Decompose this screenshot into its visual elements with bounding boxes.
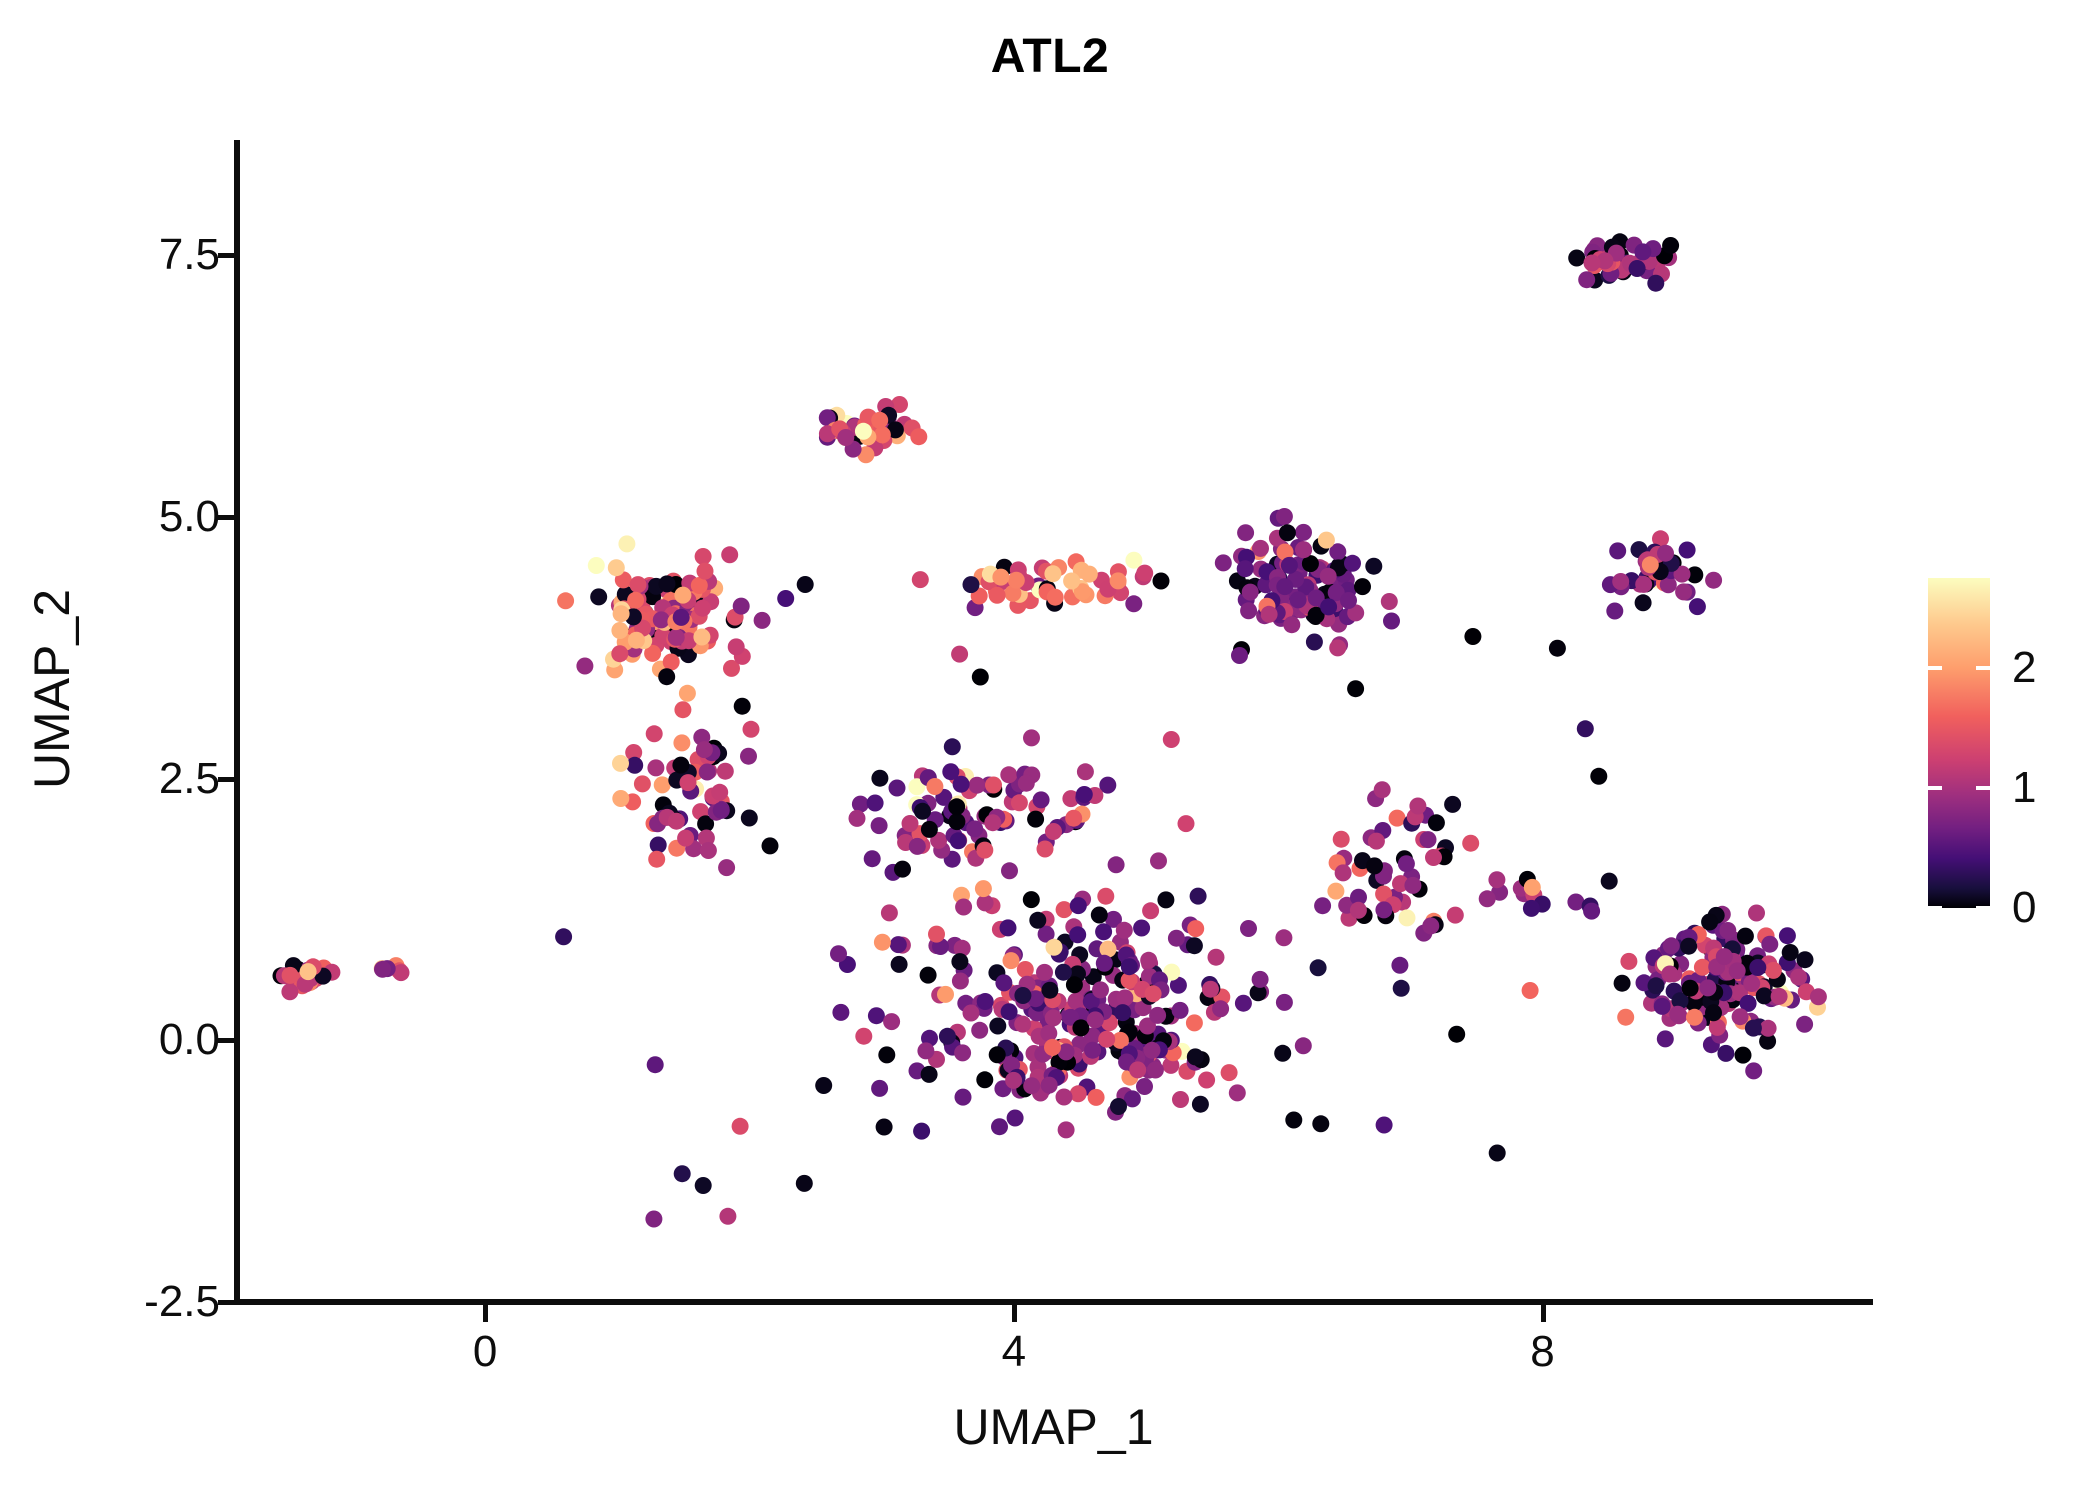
scatter-point xyxy=(881,904,898,921)
scatter-point xyxy=(1705,572,1722,589)
scatter-point xyxy=(648,851,665,868)
scatter-point xyxy=(1221,1064,1238,1081)
scatter-point xyxy=(1335,864,1352,881)
scatter-point xyxy=(1237,560,1254,577)
scatter-point xyxy=(1125,595,1142,612)
scatter-point xyxy=(1063,573,1080,590)
x-tick-mark xyxy=(1541,1305,1546,1322)
scatter-point xyxy=(832,1004,849,1021)
scatter-point xyxy=(1523,900,1540,917)
scatter-point xyxy=(628,632,645,649)
scatter-point xyxy=(694,600,711,617)
scatter-point xyxy=(914,803,931,820)
scatter-point xyxy=(1023,729,1040,746)
scatter-point xyxy=(1790,969,1807,986)
scatter-point xyxy=(743,721,760,738)
scatter-point xyxy=(989,587,1006,604)
scatter-point xyxy=(1374,781,1391,798)
scatter-point xyxy=(976,842,993,859)
scatter-point xyxy=(1444,796,1461,813)
scatter-point xyxy=(679,685,696,702)
scatter-point xyxy=(1479,890,1496,907)
scatter-point xyxy=(1003,952,1020,969)
scatter-point xyxy=(1041,982,1058,999)
scatter-point xyxy=(555,928,572,945)
scatter-point xyxy=(1276,508,1293,525)
scatter-point xyxy=(1088,1089,1105,1106)
scatter-point xyxy=(1140,952,1157,969)
scatter-point xyxy=(1190,888,1207,905)
scatter-point xyxy=(1686,1009,1703,1026)
scatter-point xyxy=(944,738,961,755)
scatter-point xyxy=(1252,540,1269,557)
colorbar-tick-mark xyxy=(1976,666,1990,670)
scatter-point xyxy=(696,741,713,758)
x-tick-label: 4 xyxy=(934,1330,1094,1374)
scatter-point xyxy=(939,1028,956,1045)
scatter-point xyxy=(1654,998,1671,1015)
scatter-point xyxy=(1097,888,1114,905)
scatter-point xyxy=(1420,831,1437,848)
scatter-point xyxy=(1606,603,1623,620)
scatter-point xyxy=(1760,1020,1777,1037)
y-tick-label: 2.5 xyxy=(159,757,220,801)
scatter-point xyxy=(668,813,685,830)
scatter-point xyxy=(1409,798,1426,815)
scatter-point xyxy=(1098,1031,1115,1048)
scatter-point xyxy=(874,426,891,443)
x-axis-title: UMAP_1 xyxy=(234,1398,1873,1456)
scatter-point xyxy=(992,569,1009,586)
scatter-point xyxy=(1153,573,1170,590)
scatter-point xyxy=(1782,944,1799,961)
scatter-point xyxy=(1276,578,1293,595)
scatter-point xyxy=(1187,1048,1204,1065)
scatter-point xyxy=(920,967,937,984)
scatter-point xyxy=(1072,1019,1089,1036)
scatter-point xyxy=(1680,938,1697,955)
scatter-point xyxy=(1000,766,1017,783)
scatter-point xyxy=(1657,545,1674,562)
scatter-point xyxy=(673,734,690,751)
colorbar-tick-mark xyxy=(1976,906,1990,910)
scatter-point xyxy=(1172,1091,1189,1108)
scatter-point xyxy=(1044,565,1061,582)
scatter-point xyxy=(719,1208,736,1225)
scatter-point xyxy=(1121,958,1138,975)
scatter-point xyxy=(913,1123,930,1140)
scatter-point xyxy=(797,576,814,593)
scatter-point xyxy=(733,598,750,615)
scatter-point xyxy=(1114,1004,1131,1021)
scatter-point xyxy=(971,1022,988,1039)
scatter-point xyxy=(966,820,983,837)
scatter-point xyxy=(300,963,317,980)
scatter-point xyxy=(1320,568,1337,585)
scatter-point xyxy=(777,590,794,607)
scatter-point xyxy=(1187,920,1204,937)
scatter-point xyxy=(1810,988,1827,1005)
y-tick-label: -2.5 xyxy=(144,1280,220,1324)
scatter-point xyxy=(1007,1110,1024,1127)
scatter-point xyxy=(1761,936,1778,953)
scatter-point xyxy=(282,967,299,984)
scatter-point xyxy=(972,669,989,686)
scatter-point xyxy=(855,1028,872,1045)
scatter-point xyxy=(1100,941,1117,958)
y-axis-title: UMAP_2 xyxy=(23,349,81,1029)
scatter-point xyxy=(852,796,869,813)
scatter-point xyxy=(1285,1112,1302,1129)
scatter-point xyxy=(891,956,908,973)
scatter-point xyxy=(717,763,734,780)
scatter-point xyxy=(1329,639,1346,656)
scatter-point xyxy=(695,1177,712,1194)
scatter-point xyxy=(711,784,728,801)
scatter-point xyxy=(1771,988,1788,1005)
scatter-point xyxy=(700,842,717,859)
scatter-point xyxy=(1669,1006,1686,1023)
scatter-point xyxy=(1290,591,1307,608)
scatter-point xyxy=(1116,922,1133,939)
scatter-point xyxy=(1578,271,1595,288)
y-tick-mark xyxy=(218,1300,234,1305)
scatter-point xyxy=(1027,811,1044,828)
scatter-point xyxy=(1743,975,1760,992)
scatter-point xyxy=(1425,849,1442,866)
scatter-point xyxy=(677,830,694,847)
scatter-point xyxy=(1601,873,1618,890)
scatter-point xyxy=(909,838,926,855)
scatter-point xyxy=(1422,917,1439,934)
scatter-point xyxy=(977,993,994,1010)
scatter-point xyxy=(1699,979,1716,996)
scatter-point xyxy=(1765,962,1782,979)
scatter-point xyxy=(796,1175,813,1192)
scatter-point xyxy=(557,592,574,609)
scatter-point xyxy=(876,1119,893,1136)
scatter-point xyxy=(634,775,651,792)
scatter-point xyxy=(954,1044,971,1061)
scatter-point xyxy=(611,645,628,662)
scatter-point xyxy=(953,776,970,793)
scatter-point xyxy=(1091,907,1108,924)
scatter-point xyxy=(1629,260,1646,277)
scatter-point xyxy=(659,575,676,592)
scatter-point xyxy=(1076,786,1093,803)
scatter-point xyxy=(611,622,628,639)
scatter-point xyxy=(1577,720,1594,737)
y-tick-mark xyxy=(218,515,234,520)
scatter-point xyxy=(1609,542,1626,559)
scatter-point xyxy=(647,1056,664,1073)
scatter-point xyxy=(647,759,664,776)
scatter-point xyxy=(1462,835,1479,852)
colorbar-tick-label: 2 xyxy=(2012,646,2036,690)
scatter-point xyxy=(989,1018,1006,1035)
scatter-point xyxy=(1327,883,1344,900)
scatter-point xyxy=(613,605,630,622)
scatter-point xyxy=(645,1211,662,1228)
scatter-point xyxy=(627,592,644,609)
scatter-point xyxy=(1008,572,1025,589)
scatter-point xyxy=(1583,903,1600,920)
scatter-point xyxy=(1055,964,1072,981)
scatter-point xyxy=(948,813,965,830)
scatter-point xyxy=(1017,961,1034,978)
scatter-point xyxy=(1749,959,1766,976)
scatter-point xyxy=(1383,613,1400,630)
scatter-point xyxy=(1150,852,1167,869)
scatter-point xyxy=(1136,1078,1153,1095)
scatter-point xyxy=(1163,731,1180,748)
scatter-point xyxy=(1058,1121,1075,1138)
scatter-point xyxy=(1310,959,1327,976)
scatter-point xyxy=(1178,815,1195,832)
scatter-point xyxy=(1001,862,1018,879)
x-tick-label: 0 xyxy=(405,1330,565,1374)
scatter-point xyxy=(1568,250,1585,267)
scatter-point xyxy=(815,1077,832,1094)
scatter-point xyxy=(1398,855,1415,872)
scatter-point xyxy=(693,629,710,646)
scatter-point xyxy=(1242,584,1259,601)
scatter-point xyxy=(1340,592,1357,609)
scatter-point xyxy=(1018,775,1035,792)
scatter-point xyxy=(713,802,730,819)
scatter-point xyxy=(849,810,866,827)
scatter-point xyxy=(1147,1062,1164,1079)
scatter-point xyxy=(1314,897,1331,914)
scatter-point xyxy=(948,798,965,815)
y-tick-mark xyxy=(218,777,234,782)
scatter-point xyxy=(1368,833,1385,850)
scatter-point xyxy=(830,945,847,962)
scatter-point xyxy=(1756,987,1773,1004)
scatter-point xyxy=(1276,994,1293,1011)
scatter-point xyxy=(1092,981,1109,998)
scatter-point xyxy=(1701,914,1718,931)
scatter-point xyxy=(952,973,969,990)
scatter-point xyxy=(1318,532,1335,549)
scatter-point xyxy=(902,815,919,832)
scatter-point xyxy=(1614,975,1631,992)
scatter-point xyxy=(1635,594,1652,611)
scatter-point xyxy=(1215,554,1232,571)
scatter-point xyxy=(1366,857,1383,874)
scatter-point xyxy=(1612,573,1629,590)
scatter-point xyxy=(950,832,967,849)
scatter-point xyxy=(1705,1004,1722,1021)
scatter-point xyxy=(1198,1072,1215,1089)
scatter-point xyxy=(951,646,968,663)
scatter-point xyxy=(680,774,697,791)
scatter-point xyxy=(1709,1019,1726,1036)
scatter-point xyxy=(612,755,629,772)
scatter-point xyxy=(1240,920,1257,937)
scatter-point xyxy=(1719,922,1736,939)
y-tick-label: 5.0 xyxy=(159,495,220,539)
scatter-point xyxy=(1069,926,1086,943)
scatter-point xyxy=(674,1165,691,1182)
scatter-point xyxy=(868,1007,885,1024)
scatter-point xyxy=(630,576,647,593)
scatter-point xyxy=(1295,524,1312,541)
scatter-point xyxy=(1682,980,1699,997)
colorbar-tick-mark xyxy=(1928,666,1942,670)
scatter-point xyxy=(1087,1011,1104,1028)
scatter-point xyxy=(1157,891,1174,908)
scatter-point xyxy=(1005,1072,1022,1089)
scatter-point xyxy=(658,668,675,685)
scatter-point xyxy=(883,1013,900,1030)
scatter-point xyxy=(871,1080,888,1097)
scatter-point xyxy=(1014,1016,1031,1033)
scatter-point xyxy=(963,576,980,593)
scatter-point xyxy=(912,571,929,588)
scatter-point xyxy=(955,899,972,916)
scatter-point xyxy=(646,725,663,742)
scatter-point xyxy=(975,880,992,897)
y-tick-label: 7.5 xyxy=(159,233,220,277)
colorbar-tick-label: 0 xyxy=(2012,886,2036,930)
scatter-point xyxy=(1375,901,1392,918)
scatter-point xyxy=(951,953,968,970)
scatter-point xyxy=(668,629,685,646)
scatter-point xyxy=(1642,556,1659,573)
scatter-point xyxy=(1044,1039,1061,1056)
scatter-point xyxy=(1240,602,1257,619)
scatter-point xyxy=(654,776,671,793)
scatter-point xyxy=(1145,985,1162,1002)
scatter-point xyxy=(699,764,716,781)
scatter-point xyxy=(1110,1098,1127,1115)
scatter-point xyxy=(1036,964,1053,981)
scatter-point xyxy=(1657,1030,1674,1047)
scatter-point xyxy=(1745,1062,1762,1079)
scatter-point xyxy=(1735,1047,1752,1064)
scatter-point xyxy=(1393,980,1410,997)
scatter-point xyxy=(1231,647,1248,664)
scatter-point xyxy=(991,1118,1008,1135)
scatter-point xyxy=(937,986,954,1003)
scatter-point xyxy=(1488,871,1505,888)
colorbar-tick-mark xyxy=(1928,906,1942,910)
colorbar-tick-mark xyxy=(1976,786,1990,790)
scatter-point xyxy=(1347,680,1364,697)
scatter-point xyxy=(1732,1008,1749,1025)
scatter-point xyxy=(1716,948,1733,965)
scatter-point xyxy=(1389,810,1406,827)
scatter-point xyxy=(374,961,391,978)
scatter-point xyxy=(663,654,680,671)
scatter-point xyxy=(1522,982,1539,999)
scatter-point xyxy=(1447,907,1464,924)
scatter-point xyxy=(1168,930,1185,947)
scatter-point xyxy=(1797,951,1814,968)
scatter-point xyxy=(1729,962,1746,979)
scatter-point xyxy=(1144,1042,1161,1059)
scatter-point xyxy=(1077,763,1094,780)
scatter-point xyxy=(754,612,771,629)
scatter-point xyxy=(1081,566,1098,583)
y-tick-mark xyxy=(218,1038,234,1043)
colorbar-tick-mark xyxy=(1928,786,1942,790)
scatter-point xyxy=(1045,1009,1062,1026)
scatter-point xyxy=(1261,606,1278,623)
scatter-point xyxy=(1068,993,1085,1010)
scatter-point xyxy=(588,557,605,574)
colorbar-legend xyxy=(1928,578,1990,908)
scatter-point xyxy=(1275,929,1292,946)
scatter-point xyxy=(926,778,943,795)
scatter-point xyxy=(1056,1089,1073,1106)
scatter-point xyxy=(1283,616,1300,633)
scatter-points-layer xyxy=(234,140,1873,1302)
scatter-point xyxy=(1620,953,1637,970)
scatter-point xyxy=(894,861,911,878)
scatter-point xyxy=(1108,856,1125,873)
scatter-point xyxy=(1235,995,1252,1012)
scatter-plot-area xyxy=(234,140,1873,1302)
scatter-point xyxy=(921,821,938,838)
scatter-point xyxy=(1779,927,1796,944)
scatter-point xyxy=(608,559,625,576)
scatter-point xyxy=(984,814,1001,831)
scatter-point xyxy=(1675,583,1692,600)
scatter-point xyxy=(1489,1145,1506,1162)
scatter-point xyxy=(1037,841,1054,858)
scatter-point xyxy=(1023,1077,1040,1094)
scatter-point xyxy=(1186,1014,1203,1031)
scatter-point xyxy=(1096,955,1113,972)
scatter-point xyxy=(697,563,714,580)
scatter-point xyxy=(1312,1115,1329,1132)
scatter-point xyxy=(618,535,635,552)
scatter-point xyxy=(612,790,629,807)
scatter-point xyxy=(1281,557,1298,574)
chart-canvas: ATL2 -2.50.02.55.07.5048 UMAP_1 UMAP_2 0… xyxy=(0,0,2100,1500)
scatter-point xyxy=(1133,920,1150,937)
x-tick-mark xyxy=(483,1305,488,1322)
scatter-point xyxy=(1023,891,1040,908)
scatter-point xyxy=(1320,598,1337,615)
scatter-point xyxy=(740,748,757,765)
y-tick-mark xyxy=(218,253,234,258)
scatter-point xyxy=(1045,823,1062,840)
scatter-point xyxy=(1391,957,1408,974)
scatter-point xyxy=(989,1046,1006,1063)
scatter-point xyxy=(1428,814,1445,831)
scatter-point xyxy=(1274,1045,1291,1062)
scatter-point xyxy=(871,817,888,834)
scatter-point xyxy=(1129,1061,1146,1078)
scatter-point xyxy=(1237,524,1254,541)
scatter-point xyxy=(1047,589,1064,606)
scatter-point xyxy=(890,936,907,953)
scatter-point xyxy=(1070,1085,1087,1102)
scatter-point xyxy=(1110,572,1127,589)
scatter-point xyxy=(1095,923,1112,940)
scatter-point xyxy=(1001,1003,1018,1020)
scatter-point xyxy=(732,1118,749,1135)
scatter-point xyxy=(1344,555,1361,572)
scatter-point xyxy=(1070,897,1087,914)
scatter-point xyxy=(1306,634,1323,651)
scatter-point xyxy=(1679,542,1696,559)
scatter-point xyxy=(1000,919,1017,936)
scatter-point xyxy=(1464,628,1481,645)
